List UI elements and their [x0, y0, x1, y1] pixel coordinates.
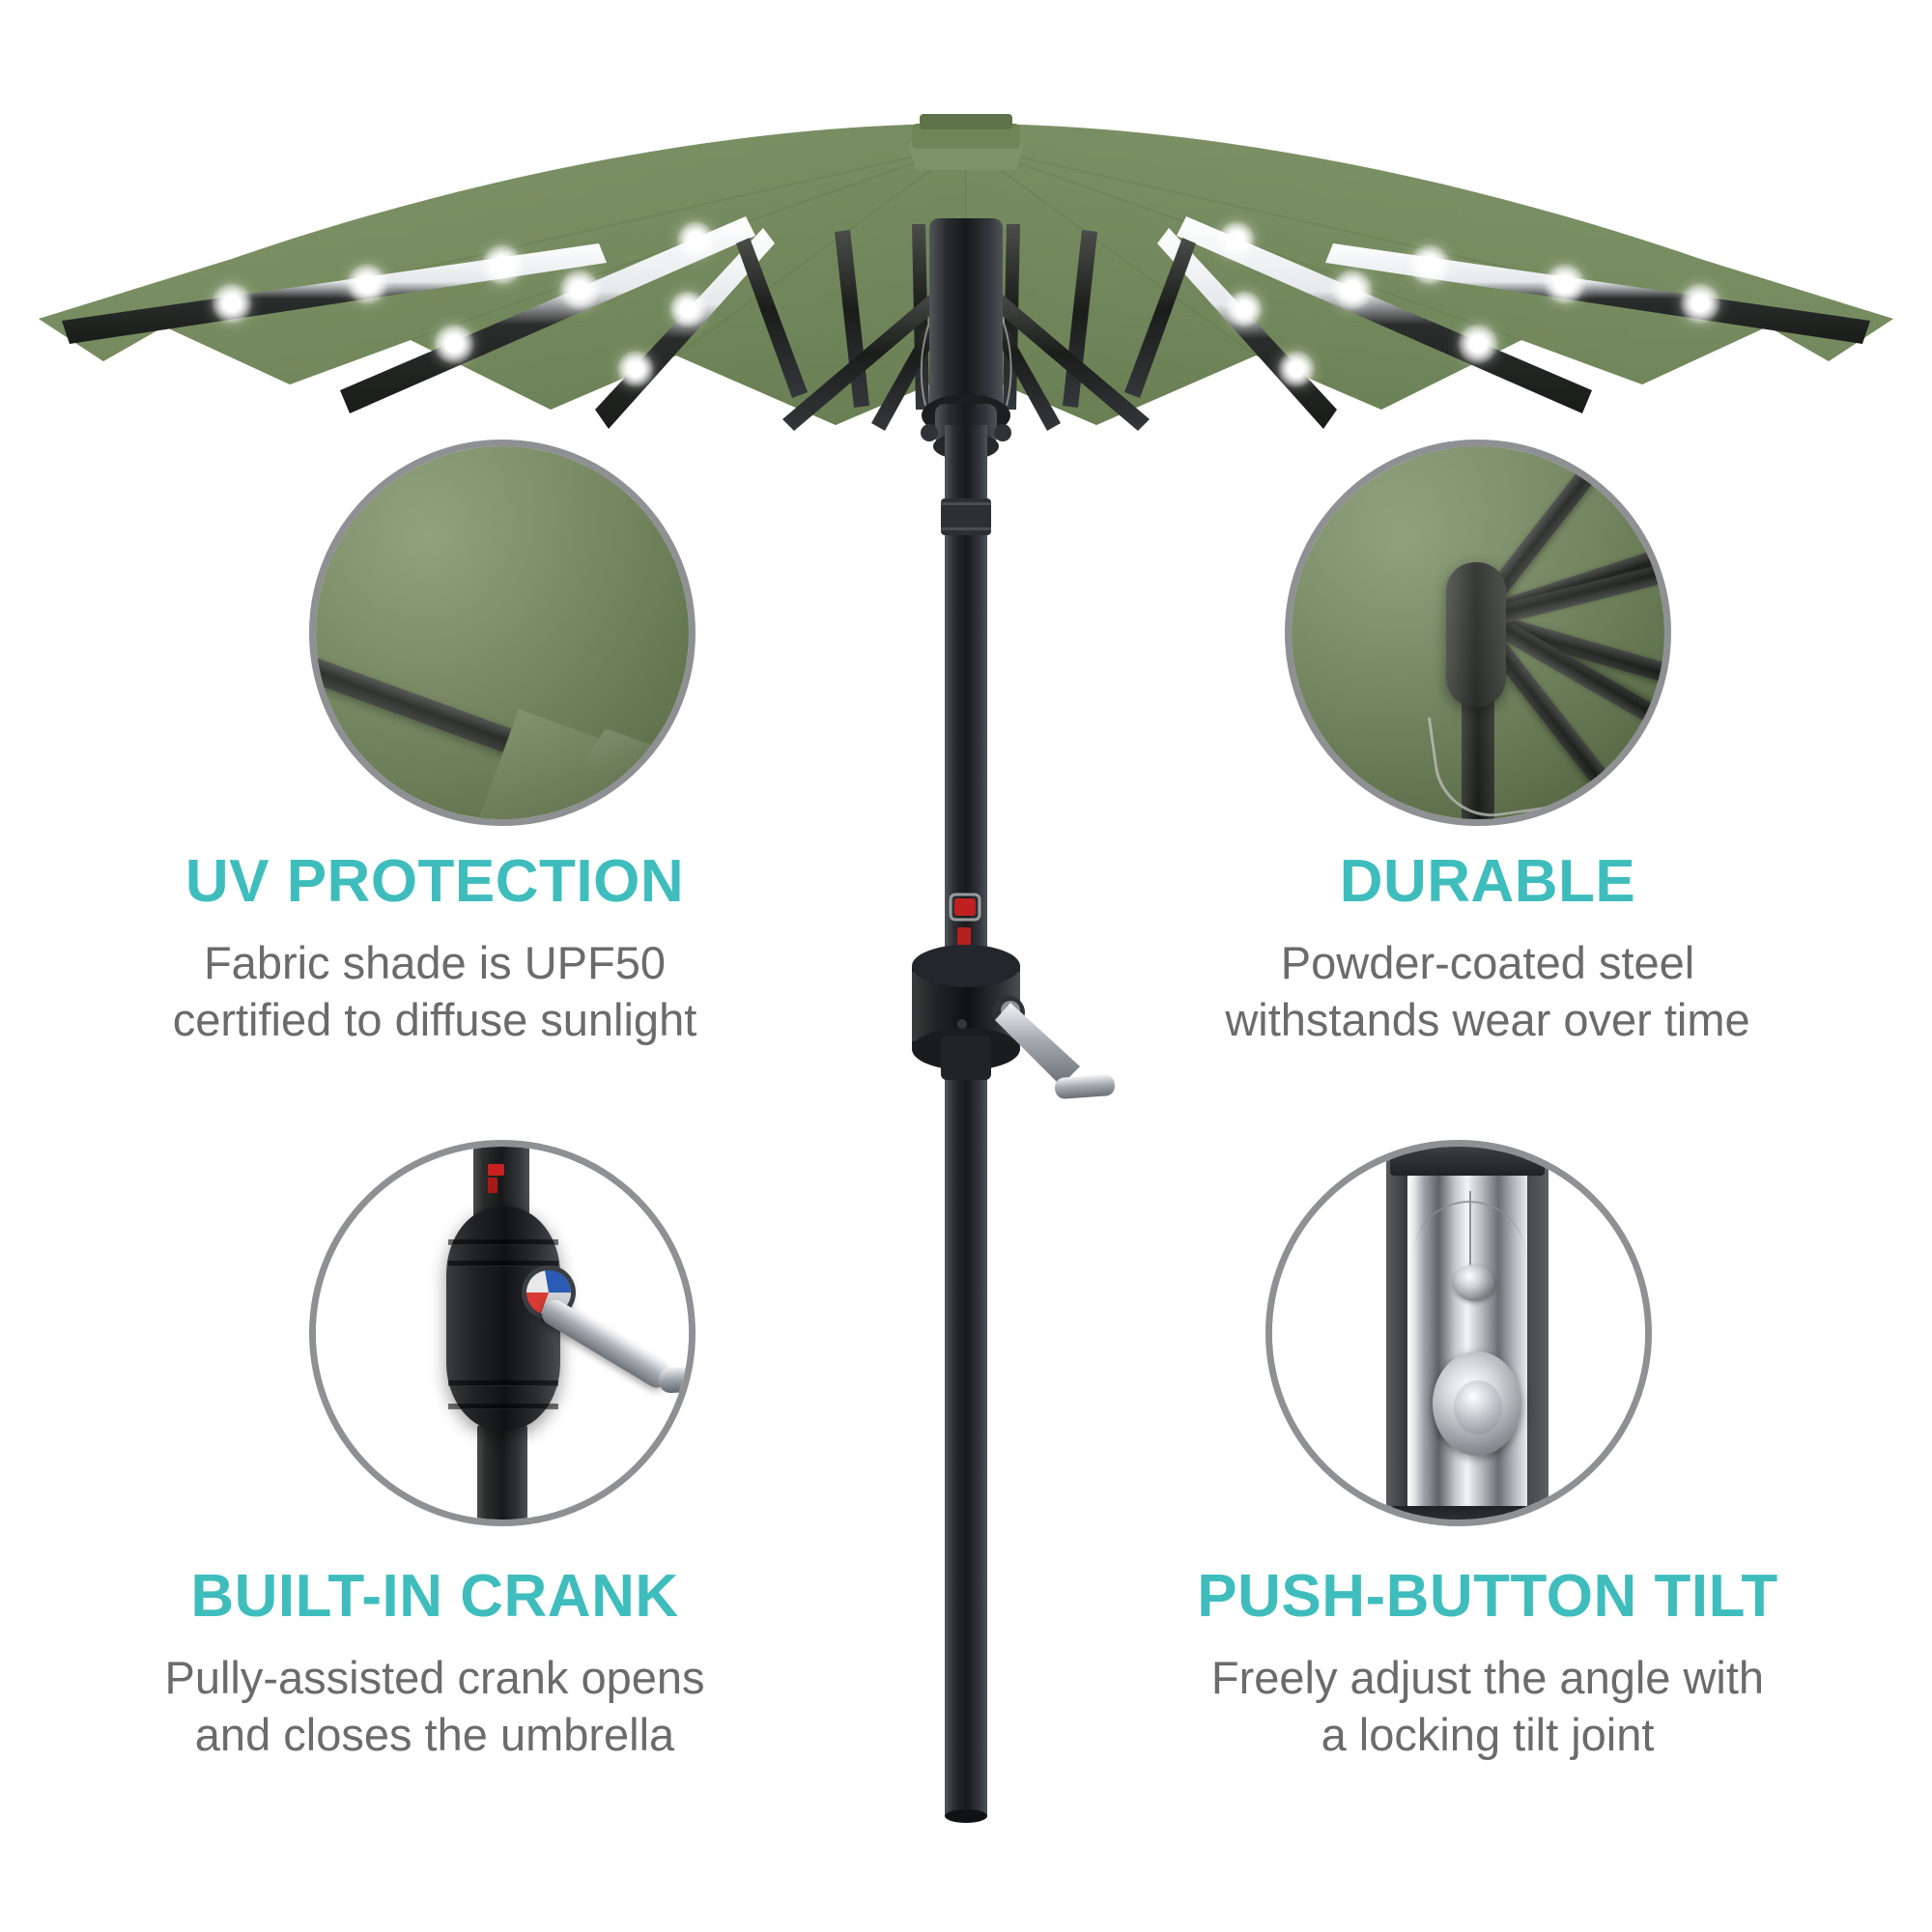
crank-red-tab — [488, 1164, 504, 1176]
umbrella-pole — [941, 425, 991, 1823]
feature-desc-line: certified to diffuse sunlight — [39, 991, 831, 1048]
feature-title-built-in-crank: BUILT-IN CRANK — [39, 1565, 831, 1628]
led-light — [346, 263, 388, 305]
rib-right-mid — [1177, 216, 1592, 413]
canopy-hub — [921, 218, 1011, 460]
canopy-vent — [908, 128, 1024, 170]
callout-built-in-crank — [309, 1140, 696, 1526]
led-light — [668, 290, 707, 328]
callout-uv-protection — [309, 440, 696, 826]
hub-pin-right — [994, 424, 1011, 441]
crank-red-button — [488, 1178, 497, 1193]
crank-seam-2 — [448, 1261, 558, 1266]
support-arms — [782, 290, 1150, 431]
feature-uv-protection: UV PROTECTION Fabric shade is UPF50 cert… — [39, 850, 831, 1049]
led-light — [1217, 220, 1256, 259]
feature-push-button-tilt: PUSH-BUTTON TILT Freely adjust the angle… — [1092, 1565, 1884, 1764]
led-light — [1457, 323, 1499, 365]
crank-seam-4 — [448, 1404, 558, 1409]
tilt-button-badge — [954, 898, 976, 916]
led-light — [211, 282, 253, 325]
feature-desc-line: Powder-coated steel — [1092, 934, 1884, 991]
crank-pole-below — [477, 1425, 527, 1526]
pole-shaft — [945, 425, 987, 1816]
umbrella-canopy — [39, 114, 1893, 425]
rib-center-b — [1063, 230, 1097, 408]
pole-sleeve-lower — [941, 1036, 991, 1078]
led-light — [481, 243, 524, 286]
crank-housing — [912, 945, 1020, 1068]
feature-desc-uv-protection: Fabric shade is UPF50 certified to diffu… — [39, 934, 831, 1048]
feature-title-uv-protection: UV PROTECTION — [39, 850, 831, 913]
callout-push-button-tilt — [1265, 1140, 1652, 1526]
tilt-release-pin — [1454, 1264, 1494, 1301]
feature-desc-push-button-tilt: Freely adjust the angle with a locking t… — [1092, 1649, 1884, 1763]
canopy-shell — [39, 124, 1893, 425]
pole-sleeve-upper — [941, 498, 991, 535]
canopy-left-shade — [39, 124, 966, 425]
feature-desc-line: a locking tilt joint — [1092, 1706, 1884, 1763]
feature-title-push-button-tilt: PUSH-BUTTON TILT — [1092, 1565, 1884, 1628]
strut-center-right — [1124, 238, 1196, 398]
led-wiring — [922, 286, 1011, 406]
tilt-push-button-detail — [1433, 1351, 1521, 1456]
led-light — [1679, 282, 1721, 325]
hub-shading — [1292, 446, 1664, 819]
fabric-shading — [316, 446, 689, 819]
feature-desc-line: Pully-assisted crank opens — [39, 1649, 831, 1706]
led-light — [616, 350, 655, 388]
rib-right-inner — [1157, 228, 1337, 429]
led-light — [558, 269, 601, 311]
rib-center-d — [1003, 224, 1020, 410]
strut-center-left — [736, 238, 808, 398]
pole-collar — [941, 1036, 991, 1080]
led-light — [1408, 243, 1451, 286]
canopy-top-strap — [920, 114, 1012, 129]
feature-desc-built-in-crank: Pully-assisted crank opens and closes th… — [39, 1649, 831, 1763]
pole-foot — [945, 1809, 987, 1823]
rib-center-c — [912, 224, 929, 410]
led-light — [1331, 269, 1374, 311]
led-light — [433, 323, 475, 365]
feature-desc-durable: Powder-coated steel withstands wear over… — [1092, 934, 1884, 1048]
feature-built-in-crank: BUILT-IN CRANK Pully-assisted crank open… — [39, 1565, 831, 1764]
led-light — [1277, 350, 1316, 388]
led-light — [1544, 263, 1586, 305]
infographic-canvas: UV PROTECTION Fabric shade is UPF50 cert… — [0, 0, 1932, 1932]
feature-desc-line: and closes the umbrella — [39, 1706, 831, 1763]
feature-desc-line: Fabric shade is UPF50 — [39, 934, 831, 991]
feature-desc-line: Freely adjust the angle with — [1092, 1649, 1884, 1706]
crank-pivot — [992, 996, 1025, 1029]
canopy-right-shade — [966, 124, 1893, 425]
tilt-cap-top — [1390, 1140, 1545, 1176]
crank-handle — [1054, 1074, 1115, 1099]
tilt-wire-stem — [1469, 1191, 1471, 1274]
feature-desc-line: withstands wear over time — [1092, 991, 1884, 1048]
tilt-cap-bottom — [1390, 1506, 1545, 1526]
crank-assembly — [912, 895, 1116, 1099]
crank-arm — [995, 1003, 1080, 1086]
led-light — [1225, 290, 1264, 328]
rib-left-mid — [340, 216, 755, 413]
led-light — [676, 220, 715, 259]
crank-seam-1 — [448, 1239, 558, 1245]
rib-left-outer — [62, 243, 607, 344]
canopy-seams — [164, 145, 1768, 369]
hub-pin-left — [921, 424, 938, 441]
crank-seam-3 — [448, 1380, 558, 1386]
feature-durable: DURABLE Powder-coated steel withstands w… — [1092, 850, 1884, 1049]
tilt-push-button — [957, 927, 971, 949]
rib-right-outer — [1325, 243, 1870, 344]
crank-handle-detail — [658, 1365, 696, 1393]
canopy-finial-cap — [912, 124, 1020, 149]
callout-durable — [1285, 440, 1671, 826]
rib-center-a — [835, 230, 869, 408]
feature-title-durable: DURABLE — [1092, 850, 1884, 913]
canopy-ribs-and-leds — [62, 216, 1870, 431]
rib-left-inner — [595, 228, 775, 429]
